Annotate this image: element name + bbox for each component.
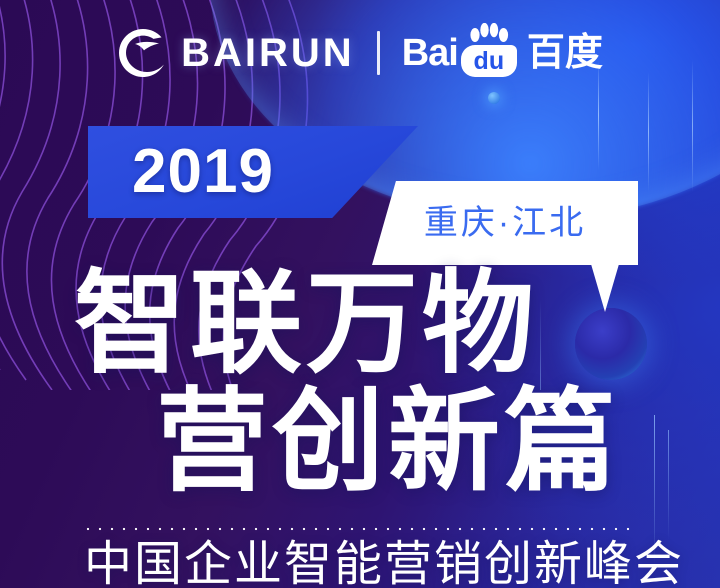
baidu-logo: Bai du 百度 <box>402 27 603 79</box>
headline-line-2: 营创新篇 <box>156 386 620 498</box>
location-bubble: 重庆·江北 <box>372 181 638 265</box>
headline-line-1: 智联万物 <box>74 268 538 380</box>
glowing-sphere-icon <box>575 308 647 380</box>
logo-row: BAIRUN Bai du 百度 <box>0 16 720 90</box>
logo-divider <box>377 31 380 75</box>
baidu-bai-text: Bai <box>402 34 458 72</box>
bubble-tail-icon <box>591 264 619 312</box>
baidu-du-group: du <box>461 27 517 79</box>
bairun-logo: BAIRUN <box>117 27 355 79</box>
baidu-du-text: du <box>474 49 505 74</box>
subtitle-text: 中国企业智能营销创新峰会 <box>84 540 684 588</box>
year-text: 2019 <box>132 141 274 203</box>
paw-print-icon <box>469 23 509 47</box>
accent-line-2 <box>648 72 649 192</box>
accent-line-6 <box>540 300 541 390</box>
accent-line-5 <box>668 430 669 540</box>
bairun-crescent-icon <box>117 27 169 79</box>
poster-canvas: BAIRUN Bai du 百度 2019 重庆·江北 <box>0 0 720 588</box>
year-banner: 2019 <box>88 126 418 218</box>
location-text: 重庆·江北 <box>424 206 586 240</box>
baidu-du-box: du <box>461 45 517 77</box>
bairun-wordmark: BAIRUN <box>181 33 355 73</box>
baidu-chinese-text: 百度 <box>527 34 603 72</box>
small-glow-dot-icon <box>488 92 500 104</box>
dotted-divider <box>82 527 638 531</box>
